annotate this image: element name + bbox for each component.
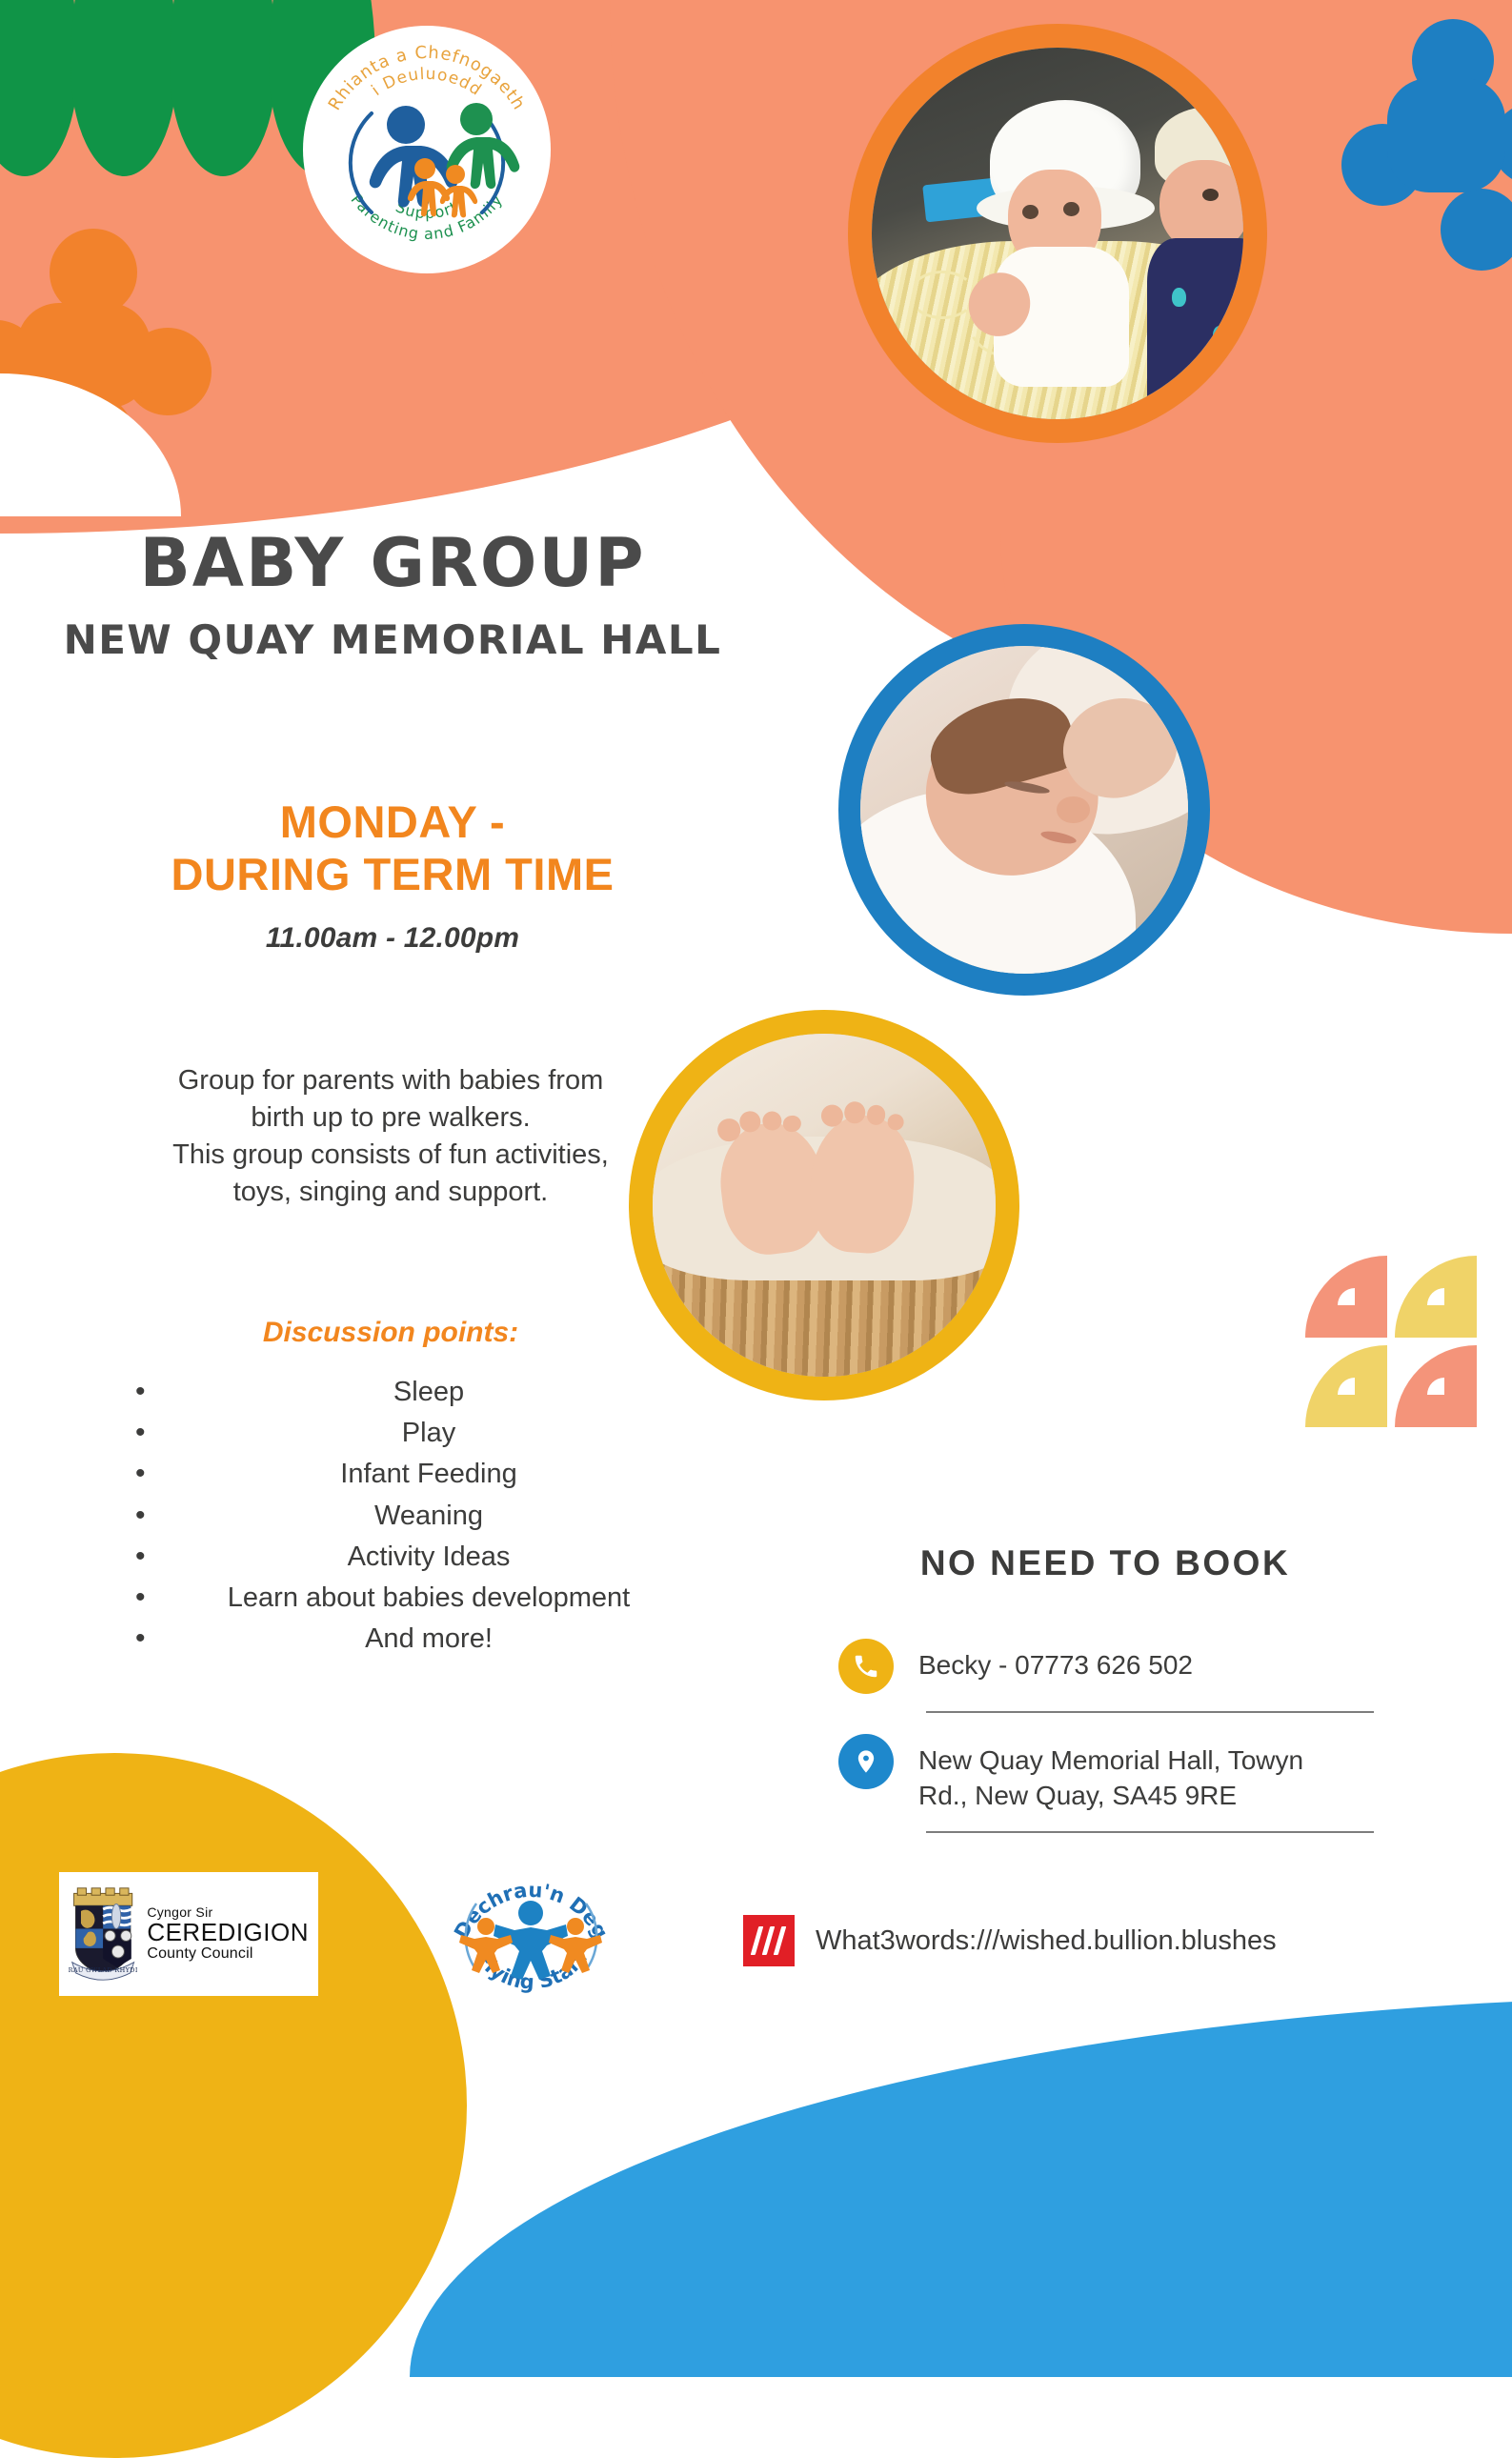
council-logo-line-3: County Council bbox=[147, 1946, 309, 1963]
ceredigion-county-council-logo: GORAU GWLAD RHYDDID Cyngor Sir CEREDIGIO… bbox=[59, 1872, 318, 1996]
ceredigion-coat-of-arms-icon: GORAU GWLAD RHYDDID bbox=[69, 1883, 137, 1985]
list-item: Learn about babies development bbox=[95, 1578, 762, 1619]
list-item: Activity Ideas bbox=[95, 1537, 762, 1578]
discussion-points-list: Sleep Play Infant Feeding Weaning Activi… bbox=[95, 1372, 762, 1660]
what3words-text: What3words:///wished.bullion.blushes bbox=[816, 1925, 1277, 1957]
page-title: BABY GROUP bbox=[50, 529, 736, 599]
contact-divider bbox=[926, 1831, 1374, 1833]
contact-address-row[interactable]: New Quay Memorial Hall, Towyn Rd., New Q… bbox=[838, 1724, 1410, 1820]
photo-babies-playing-with-spaghetti bbox=[848, 24, 1267, 443]
photo-sleeping-newborn bbox=[838, 624, 1210, 996]
description-line: birth up to pre walkers. bbox=[86, 1099, 696, 1137]
contact-phone-text: Becky - 07773 626 502 bbox=[918, 1639, 1193, 1683]
list-item: And more! bbox=[95, 1619, 762, 1660]
venue-heading: NEW QUAY MEMORIAL HALL bbox=[50, 616, 736, 663]
list-item: Infant Feeding bbox=[95, 1454, 762, 1495]
list-item: Weaning bbox=[95, 1496, 762, 1537]
flying-start-logo: Dechrau'n Deg Flying Start bbox=[448, 1858, 615, 2015]
contact-divider bbox=[926, 1711, 1374, 1713]
phone-icon bbox=[838, 1639, 894, 1694]
schedule-time: 11.00am - 12.00pm bbox=[50, 922, 736, 955]
description-line: Group for parents with babies from bbox=[86, 1062, 696, 1099]
contact-address-line-1: New Quay Memorial Hall, Towyn bbox=[918, 1743, 1303, 1779]
blue-plus-blob-decoration bbox=[1353, 19, 1512, 229]
schedule-day: MONDAY - bbox=[280, 796, 505, 847]
discussion-points-title: Discussion points: bbox=[86, 1317, 696, 1349]
contact-address-line-2: Rd., New Quay, SA45 9RE bbox=[918, 1779, 1303, 1814]
map-pin-icon bbox=[838, 1734, 894, 1789]
schedule-block: MONDAY - DURING TERM TIME 11.00am - 12.0… bbox=[50, 796, 736, 955]
list-item: Play bbox=[95, 1413, 762, 1454]
contact-block: Becky - 07773 626 502 New Quay Memorial … bbox=[838, 1629, 1410, 1844]
description-line: toys, singing and support. bbox=[86, 1174, 696, 1211]
yellow-circle-decoration bbox=[0, 1753, 467, 2458]
parenting-family-support-logo: Rhianta a Chefnogaeth i Deuluoedd Parent… bbox=[303, 26, 551, 273]
schedule-term: DURING TERM TIME bbox=[171, 849, 615, 899]
description-block: Group for parents with babies from birth… bbox=[86, 1062, 696, 1212]
blue-wave-decoration bbox=[410, 1996, 1512, 2377]
svg-text:GORAU GWLAD RHYDDID: GORAU GWLAD RHYDDID bbox=[69, 1966, 137, 1974]
what3words-row[interactable]: What3words:///wished.bullion.blushes bbox=[743, 1915, 1277, 1966]
contact-phone-row[interactable]: Becky - 07773 626 502 bbox=[838, 1629, 1410, 1700]
council-logo-line-2: CEREDIGION bbox=[147, 1920, 309, 1946]
booking-heading: NO NEED TO BOOK bbox=[838, 1543, 1372, 1583]
description-line: This group consists of fun activities, bbox=[86, 1137, 696, 1174]
list-item: Sleep bbox=[95, 1372, 762, 1413]
headline-block: BABY GROUP NEW QUAY MEMORIAL HALL bbox=[50, 529, 736, 663]
what3words-slashes-icon bbox=[743, 1915, 795, 1966]
